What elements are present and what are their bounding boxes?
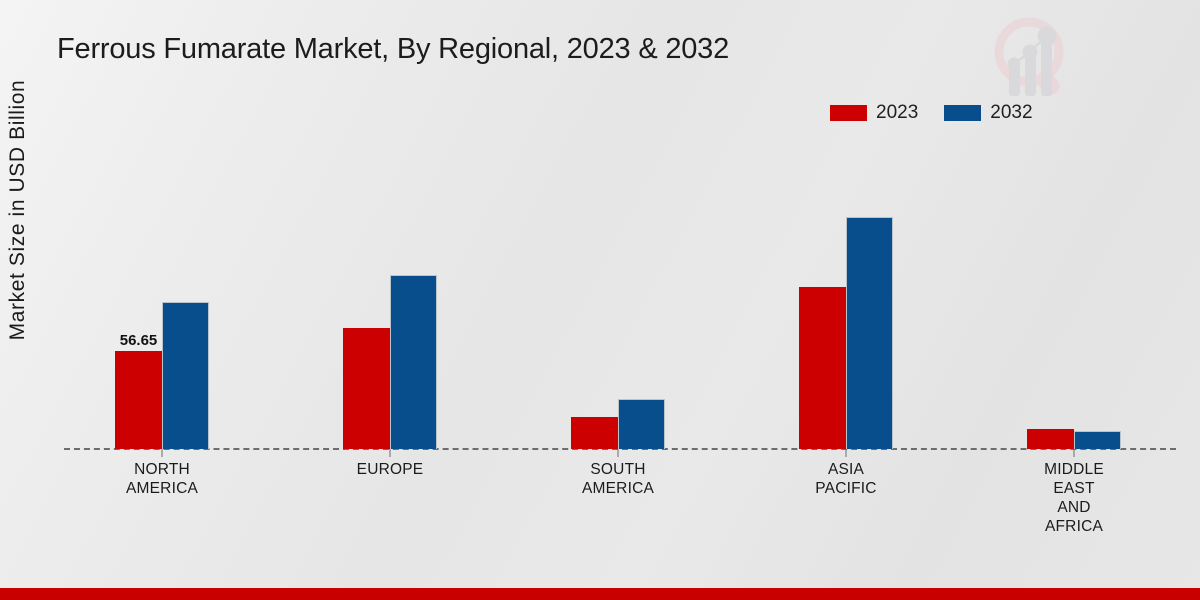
bar-2023[interactable] [343,328,390,449]
x-axis-tick [1074,449,1075,457]
legend-item-2032[interactable]: 2032 [944,102,1032,124]
bar-pair [1027,429,1121,449]
legend-swatch-2023-icon [830,105,867,121]
legend-swatch-2032-icon [944,105,981,121]
y-axis-title: Market Size in USD Billion [6,40,30,380]
x-axis-category-label: ASIAPACIFIC [732,460,960,498]
x-axis-category-label: NORTHAMERICA [48,460,276,498]
legend-label-2032: 2032 [990,102,1032,124]
x-axis-tick [618,449,619,457]
bar-2023[interactable] [1027,429,1074,449]
bar-group: SOUTHAMERICA [504,140,732,449]
legend-label-2023: 2023 [876,102,918,124]
footer-accent-bar [0,588,1200,600]
x-axis-tick [162,449,163,457]
bar-2032[interactable] [1074,431,1121,449]
bar-pair [799,217,893,449]
bar-2032[interactable] [162,302,209,449]
bar-2023[interactable]: 56.65 [115,351,162,449]
x-axis-category-label: EUROPE [276,460,504,479]
chart-container: Ferrous Fumarate Market, By Regional, 20… [0,0,1200,600]
bar-2032[interactable] [390,275,437,449]
bar-group: 56.65NORTHAMERICA [48,140,276,449]
bar-group: ASIAPACIFIC [732,140,960,449]
bar-group: MIDDLEEASTANDAFRICA [960,140,1188,449]
bar-group: EUROPE [276,140,504,449]
chart-legend: 2023 2032 [830,102,1033,124]
bar-2023[interactable] [799,287,846,449]
bar-value-label: 56.65 [120,332,158,349]
bar-pair [343,275,437,449]
bar-groups: 56.65NORTHAMERICAEUROPESOUTHAMERICAASIAP… [48,140,1188,449]
magnifier-bar-chart-logo-icon [985,8,1081,100]
bar-pair [571,399,665,449]
plot-area: 56.65NORTHAMERICAEUROPESOUTHAMERICAASIAP… [48,140,1188,450]
bar-2032[interactable] [618,399,665,449]
chart-title: Ferrous Fumarate Market, By Regional, 20… [57,33,729,66]
x-axis-tick [846,449,847,457]
bar-2032[interactable] [846,217,893,449]
bar-pair: 56.65 [115,302,209,449]
x-axis-category-label: SOUTHAMERICA [504,460,732,498]
bar-2023[interactable] [571,417,618,449]
legend-item-2023[interactable]: 2023 [830,102,918,124]
x-axis-category-label: MIDDLEEASTANDAFRICA [960,460,1188,536]
x-axis-tick [390,449,391,457]
